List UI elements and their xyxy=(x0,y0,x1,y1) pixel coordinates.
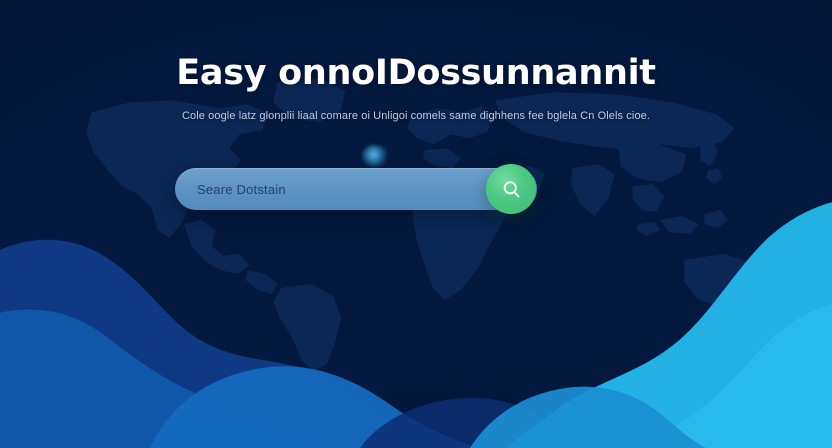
hero-content: Easy onnoIDossunnannit Cole oogle latz g… xyxy=(0,0,832,124)
page-subtitle: Cole oogle latz glonplii liaal comare oi… xyxy=(0,108,832,124)
hero-stage: Easy onnoIDossunnannit Cole oogle latz g… xyxy=(0,0,832,448)
search-button[interactable] xyxy=(486,164,536,214)
glow-accent-icon xyxy=(362,145,388,167)
search-input[interactable] xyxy=(197,182,481,197)
search-icon xyxy=(501,179,522,200)
page-title: Easy onnoIDossunnannit xyxy=(0,52,832,94)
search-field-container[interactable] xyxy=(175,168,537,210)
domain-search xyxy=(175,168,537,210)
